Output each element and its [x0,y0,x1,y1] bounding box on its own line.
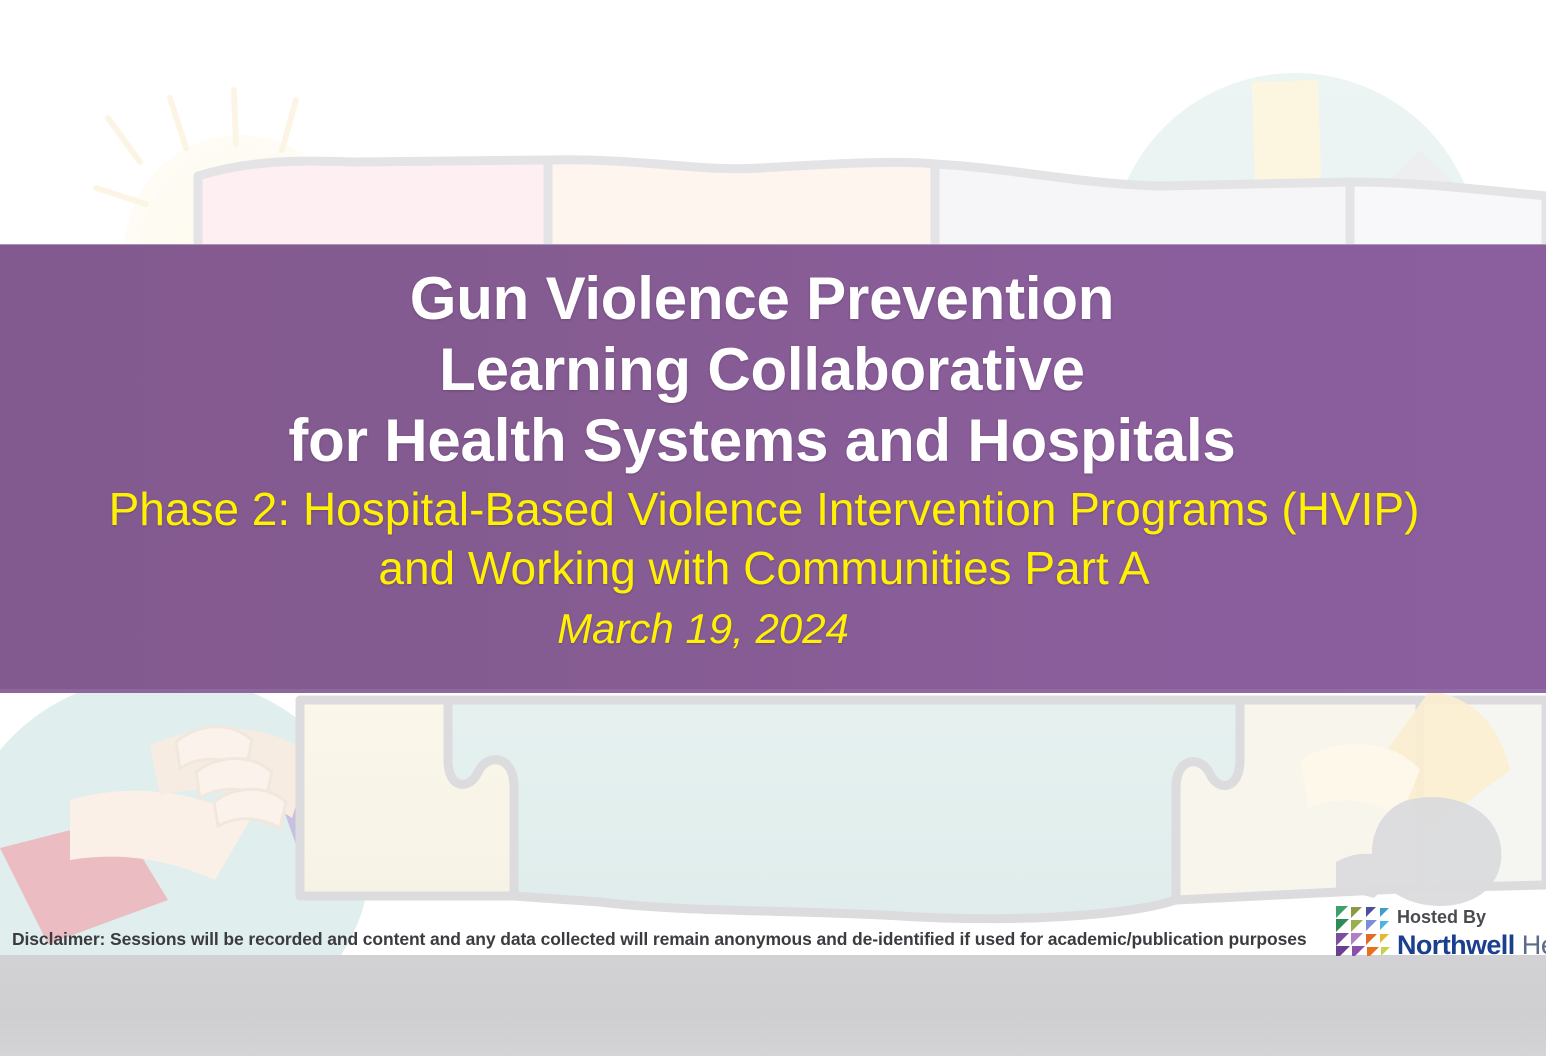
brand-secondary-spacer [1515,930,1522,960]
subtitle-line-2: and Working with Communities Part A [109,539,1420,598]
title-block: Gun Violence Prevention Learning Collabo… [288,264,1235,476]
subtitle-block: Phase 2: Hospital-Based Violence Interve… [109,480,1420,598]
session-date: March 19, 2024 [557,604,849,654]
northwell-triangles-icon [1334,904,1392,956]
northwell-health-logo: Hosted By Northwell Health™ [1334,901,1546,963]
disclaimer-text: Disclaimer: Sessions will be recorded an… [12,929,1312,950]
brand-primary: Northwell [1397,930,1515,960]
brand-wordmark: Northwell Health™ [1397,932,1546,959]
presentation-slide: Gun Violence Prevention Learning Collabo… [0,0,1546,1056]
subtitle-line-1: Phase 2: Hospital-Based Violence Interve… [109,480,1420,539]
title-banner: Gun Violence Prevention Learning Collabo… [0,244,1546,693]
logo-text-block: Hosted By Northwell Health™ [1397,901,1546,959]
title-line-1: Gun Violence Prevention [288,264,1235,335]
hosted-by-label: Hosted By [1397,901,1546,926]
brand-secondary: Health [1522,930,1546,960]
bottom-strip [0,955,1546,1056]
title-line-3: for Health Systems and Hospitals [288,406,1235,477]
title-line-2: Learning Collaborative [288,335,1235,406]
